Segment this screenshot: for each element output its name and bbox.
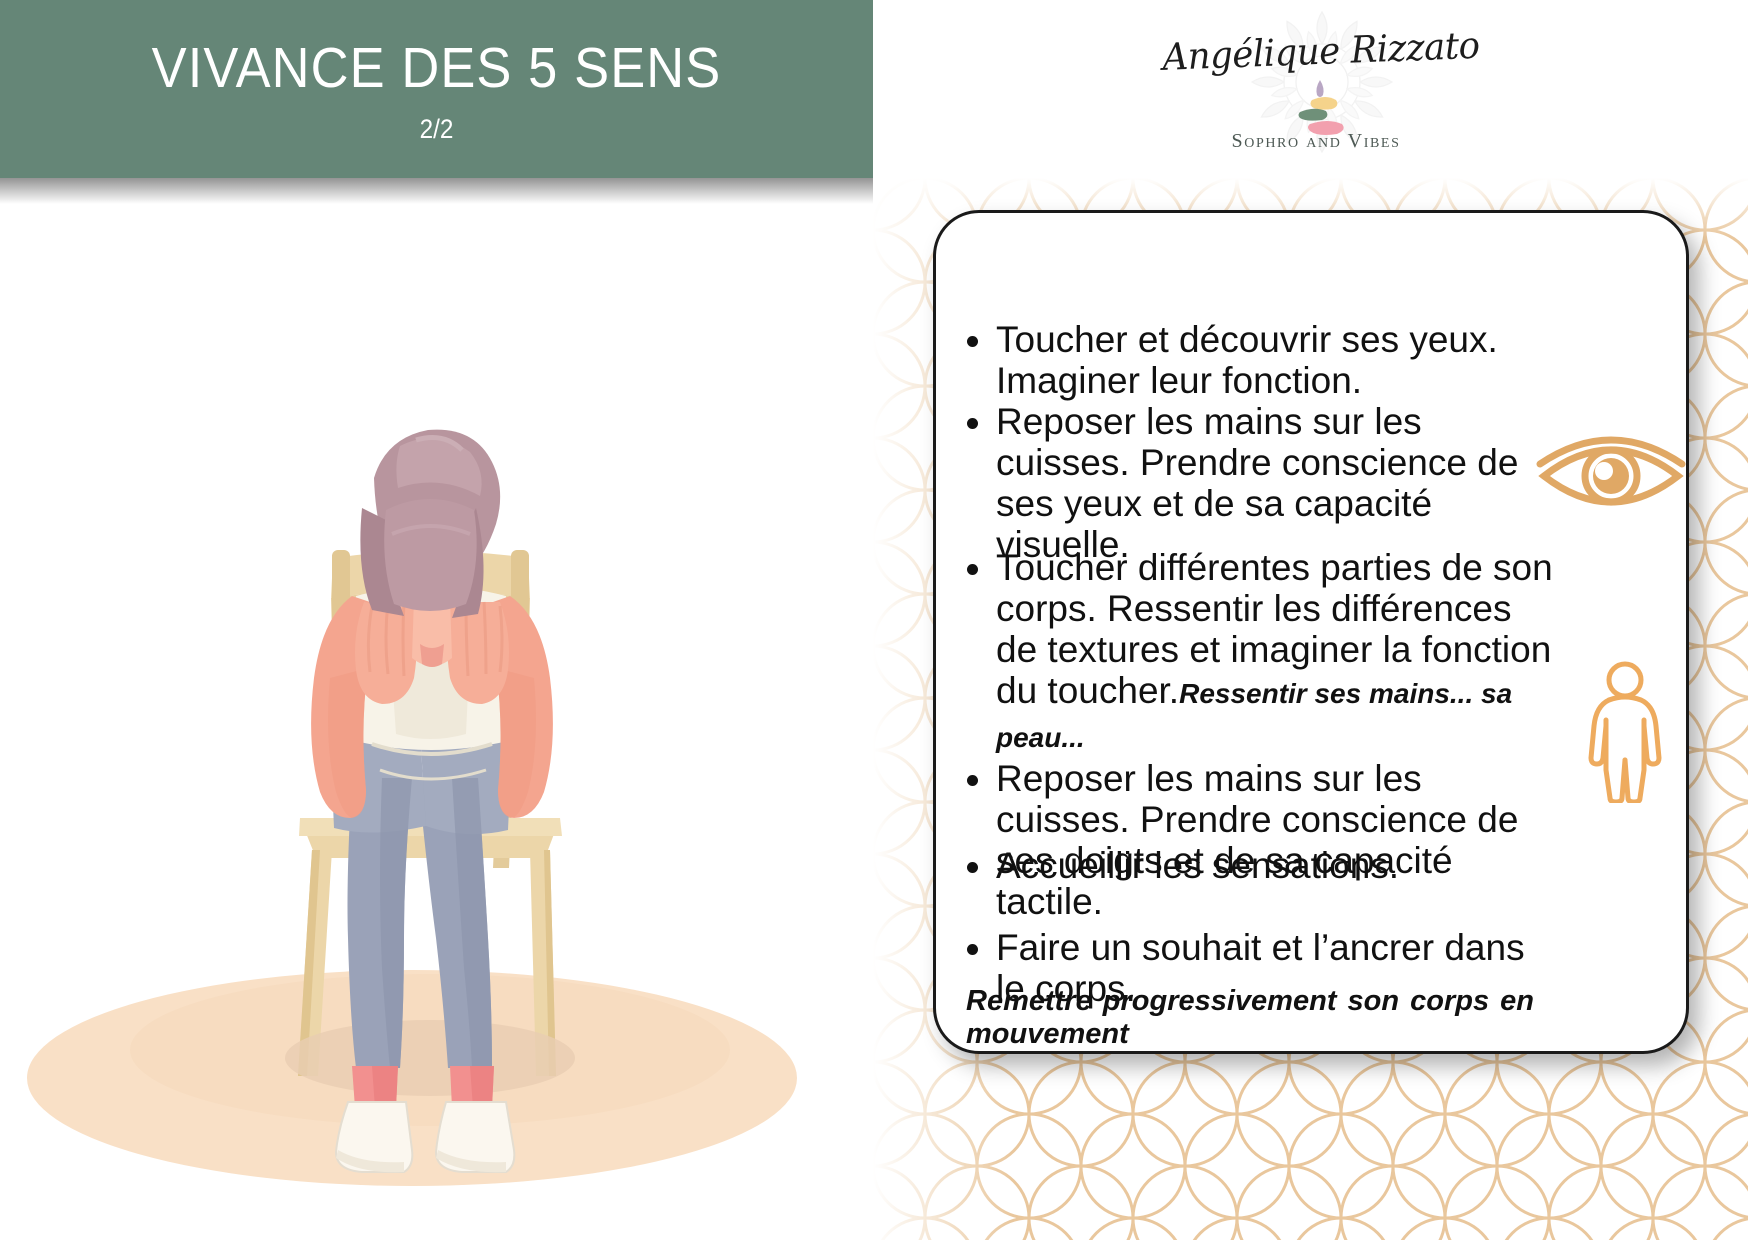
bullet-group-accueil: Accueillir les sensations. xyxy=(961,845,1561,886)
closing-note: Remettre progressivement son corps en mo… xyxy=(966,985,1666,1051)
list-item: Accueillir les sensations. xyxy=(961,845,1561,886)
eye-icon xyxy=(1532,418,1690,524)
brand-logo: Angélique Rizzato Sophro and Vibes xyxy=(873,0,1748,178)
bullet-group-vue: Toucher et découvrir ses yeux. Imaginer … xyxy=(961,319,1561,565)
list-item: Toucher et découvrir ses yeux. Imaginer … xyxy=(961,319,1561,401)
woman-seated-hands-on-face-illustration xyxy=(0,178,873,1240)
page-number: 2/2 xyxy=(44,116,830,143)
poster-page: VIVANCE DES 5 SENS 2/2 xyxy=(0,0,1748,1240)
person-body-icon xyxy=(1566,658,1684,803)
stacked-stones-icon xyxy=(1284,78,1358,138)
list-item: Reposer les mains sur les cuisses. Prend… xyxy=(961,401,1561,565)
list-item: Reposer les mains sur les cuisses. Prend… xyxy=(961,758,1561,922)
instructions-card: Toucher et découvrir ses yeux. Imaginer … xyxy=(933,210,1689,1054)
page-title: VIVANCE DES 5 SENS xyxy=(35,40,838,97)
header-band: VIVANCE DES 5 SENS 2/2 xyxy=(0,0,873,178)
brand-tagline: Sophro and Vibes xyxy=(1156,130,1476,153)
list-item: Toucher différentes parties de son corps… xyxy=(961,547,1561,758)
illustration-panel xyxy=(0,178,873,1240)
brand-name: Angélique Rizzato xyxy=(1162,24,1471,79)
header-shadow xyxy=(0,178,873,204)
